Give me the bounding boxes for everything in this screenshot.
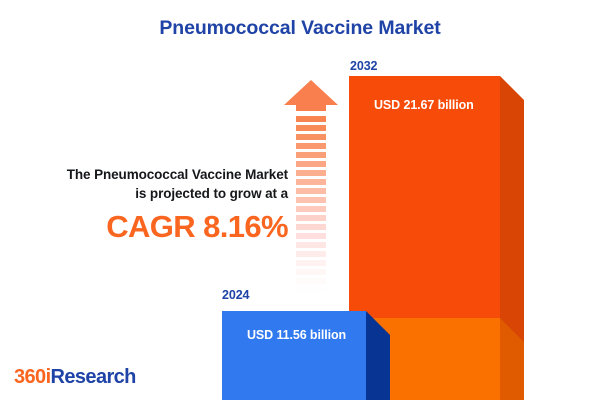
bar-value-2032: USD 21.67 billion [374, 98, 474, 112]
bar-2024-front [222, 311, 366, 400]
logo-text-secondary: Research [51, 366, 136, 388]
bar-value-2024: USD 11.56 billion [247, 328, 346, 342]
bar-label-year-2032: 2032 [350, 59, 377, 73]
brand-logo: 360iResearch [14, 366, 136, 389]
infographic-canvas: Pneumococcal Vaccine Market The Pneumoco… [0, 0, 600, 400]
logo-text-primary: 360i [14, 366, 51, 388]
bar-label-year-2024: 2024 [222, 288, 249, 302]
